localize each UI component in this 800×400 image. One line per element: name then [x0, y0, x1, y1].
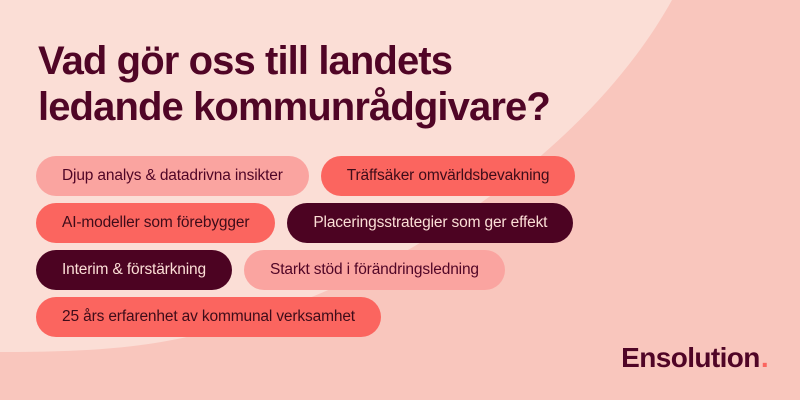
- pill-row: Djup analys & datadrivna insikter Träffs…: [36, 156, 764, 196]
- pill-row: Interim & förstärkning Starkt stöd i för…: [36, 250, 764, 290]
- pill-list: Djup analys & datadrivna insikter Träffs…: [36, 156, 764, 344]
- pill-row: AI-modeller som förebygger Placeringsstr…: [36, 203, 764, 243]
- brand-logo: Ensolution .: [621, 342, 768, 374]
- pill-ai-modeller[interactable]: AI-modeller som förebygger: [36, 203, 275, 243]
- pill-placeringsstrategier[interactable]: Placeringsstrategier som ger effekt: [287, 203, 573, 243]
- pill-interim-forstarkning[interactable]: Interim & förstärkning: [36, 250, 232, 290]
- page-title: Vad gör oss till landets ledande kommunr…: [38, 38, 738, 131]
- slide-canvas: Vad gör oss till landets ledande kommunr…: [0, 0, 800, 400]
- pill-row: 25 års erfarenhet av kommunal verksamhet: [36, 297, 764, 337]
- pill-25-ars-erfarenhet[interactable]: 25 års erfarenhet av kommunal verksamhet: [36, 297, 381, 337]
- pill-starkt-stod[interactable]: Starkt stöd i förändringsledning: [244, 250, 505, 290]
- pill-traffsaker-omvarldsbevakning[interactable]: Träffsäker omvärldsbevakning: [321, 156, 576, 196]
- pill-djup-analys[interactable]: Djup analys & datadrivna insikter: [36, 156, 309, 196]
- logo-accent-dot: .: [761, 342, 768, 374]
- logo-wordmark: Ensolution: [621, 342, 760, 374]
